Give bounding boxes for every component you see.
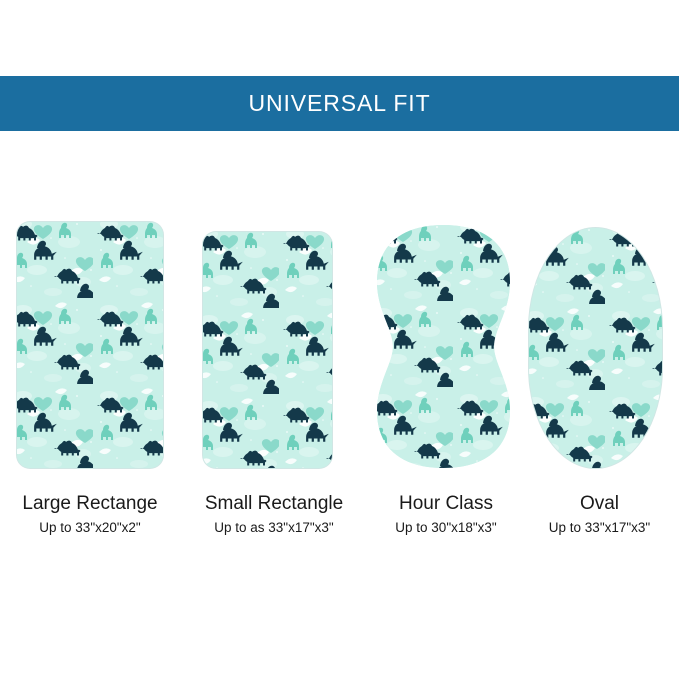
mattress-shape-gallery (0, 208, 679, 478)
label-oval: Oval Up to 33"x17"x3" (520, 492, 679, 538)
label-title: Hour Class (364, 492, 528, 516)
oval-sheet (529, 228, 662, 468)
label-hour-class: Hour Class Up to 30"x18"x3" (364, 492, 528, 538)
product-hour-class[interactable] (377, 225, 510, 468)
large-rectangle-sheet (17, 222, 163, 468)
label-large-rectangle: Large Rectange Up to 33"x20"x2" (0, 492, 180, 538)
universal-fit-banner: UNIVERSAL FIT (0, 76, 679, 131)
product-oval[interactable] (529, 228, 662, 468)
product-large-rectangle[interactable] (17, 222, 163, 468)
label-subtitle: Up to 33"x20"x2" (0, 518, 180, 538)
label-title: Oval (520, 492, 679, 516)
hour-class-sheet (377, 225, 510, 468)
dinosaur-pattern (529, 228, 662, 468)
small-rectangle-sheet (203, 232, 332, 468)
product-small-rectangle[interactable] (203, 232, 332, 468)
label-title: Large Rectange (0, 492, 180, 516)
banner-title: UNIVERSAL FIT (248, 90, 430, 117)
dinosaur-pattern (17, 222, 163, 468)
dinosaur-pattern (203, 232, 332, 468)
dinosaur-pattern (377, 225, 510, 468)
label-small-rectangle: Small Rectangle Up to as 33"x17"x3" (178, 492, 370, 538)
label-subtitle: Up to 33"x17"x3" (520, 518, 679, 538)
label-subtitle: Up to 30"x18"x3" (364, 518, 528, 538)
label-subtitle: Up to as 33"x17"x3" (178, 518, 370, 538)
label-title: Small Rectangle (178, 492, 370, 516)
